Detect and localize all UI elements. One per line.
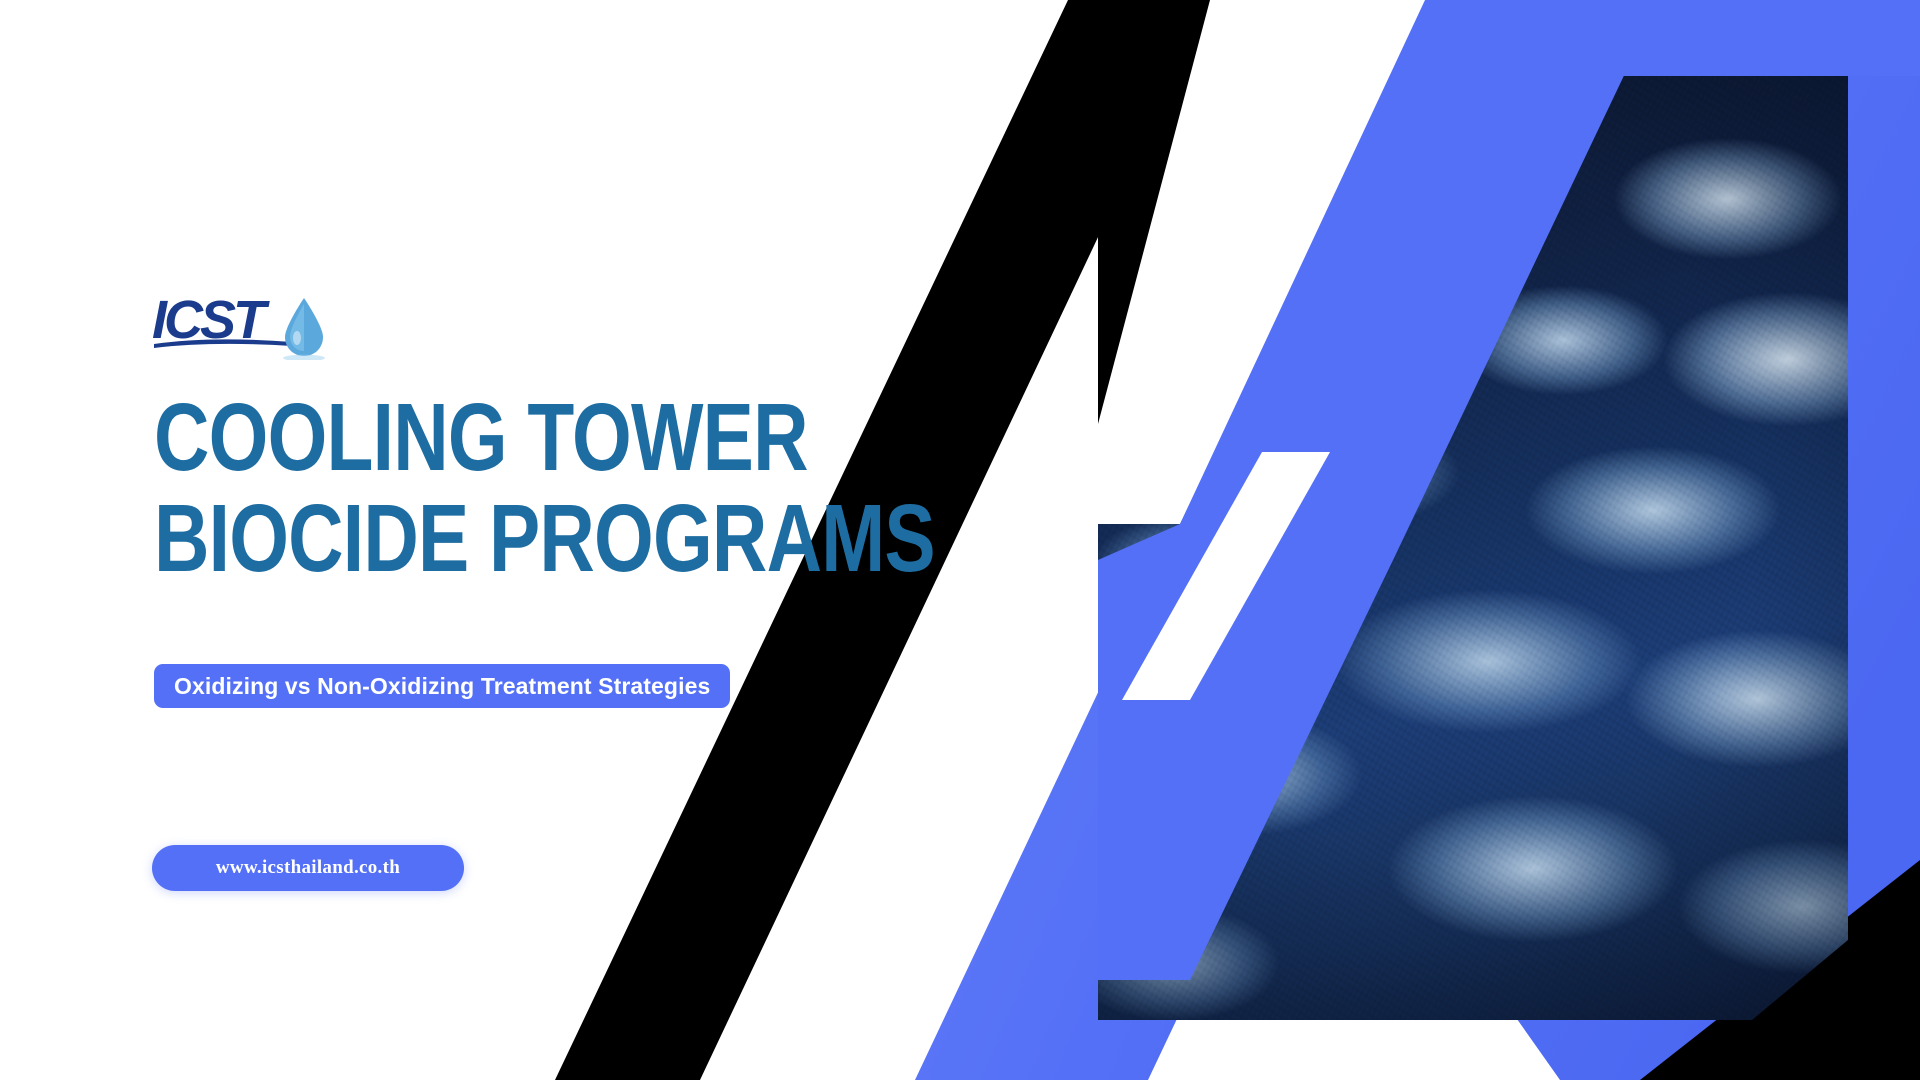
presentation-slide: ICST COOLING TOWER BIOCIDE PROGRAMS Oxid…	[0, 0, 1920, 1080]
bacteria-microscopy-photo	[1098, 76, 1848, 1020]
droplet-reflection	[283, 355, 325, 360]
icst-logo[interactable]: ICST	[152, 288, 342, 360]
slide-content: ICST COOLING TOWER BIOCIDE PROGRAMS Oxid…	[0, 0, 900, 1080]
water-droplet-icon	[283, 298, 325, 360]
website-url-button[interactable]: www.icsthailand.co.th	[152, 845, 464, 891]
title-line-1: COOLING TOWER	[154, 392, 762, 483]
droplet-highlight	[293, 331, 301, 345]
photo-layer-vignette	[1098, 76, 1848, 1020]
page-title: COOLING TOWER BIOCIDE PROGRAMS	[154, 392, 914, 584]
blue-chevron-over-photo-2	[1098, 0, 1920, 76]
subtitle-badge: Oxidizing vs Non-Oxidizing Treatment Str…	[154, 664, 730, 708]
title-line-2: BIOCIDE PROGRAMS	[154, 493, 762, 584]
